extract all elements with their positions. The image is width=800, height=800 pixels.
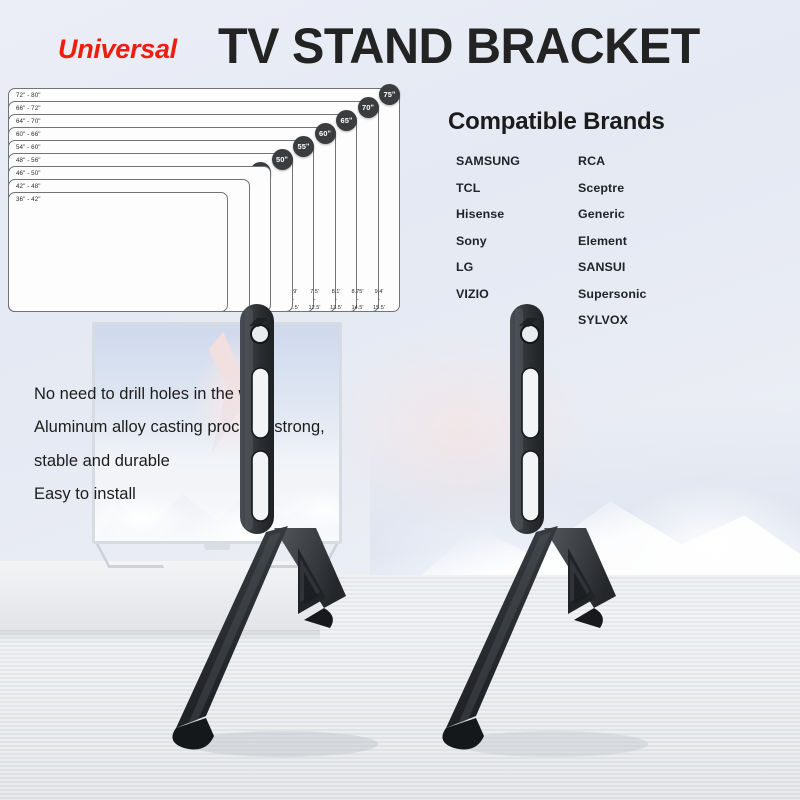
size-chart-row-label: 54" - 60" xyxy=(16,144,41,151)
tv-size-chart: 72" - 80"66" - 72"64" - 70"60" - 66"54" … xyxy=(8,88,400,316)
size-badge: 75ʺ xyxy=(379,84,400,105)
brand-item: SANSUI xyxy=(578,260,646,274)
brand-item: Sony xyxy=(456,234,520,248)
size-badge: 65ʺ xyxy=(336,110,357,131)
size-badge: 55ʺ xyxy=(293,136,314,157)
size-chart-row-label: 60" - 66" xyxy=(16,131,41,138)
brand-item: LG xyxy=(456,260,520,274)
brand-item: RCA xyxy=(578,154,646,168)
brand-item: Sceptre xyxy=(578,181,646,195)
brand-item: SAMSUNG xyxy=(456,154,520,168)
size-badge: 70ʺ xyxy=(358,97,379,118)
page-title: TV STAND BRACKET xyxy=(218,17,700,75)
size-chart-row-label: 48" - 56" xyxy=(16,157,41,164)
bracket-post xyxy=(510,304,544,534)
header-eyebrow: Universal xyxy=(58,34,177,65)
brand-item: Generic xyxy=(578,207,646,221)
bracket-post xyxy=(240,304,274,534)
compatible-brands-section: Compatible Brands SAMSUNGTCLHisenseSonyL… xyxy=(448,108,793,327)
page-header: Universal TV STAND BRACKET xyxy=(0,10,800,72)
size-badge: 50ʺ xyxy=(272,149,293,170)
brands-title: Compatible Brands xyxy=(448,108,793,136)
size-chart-row: 36" - 42" xyxy=(8,192,228,312)
tv-stand-bracket-right xyxy=(418,296,800,766)
size-chart-row-label: 66" - 72" xyxy=(16,105,41,112)
brand-item: Hisense xyxy=(456,207,520,221)
size-chart-row-label: 42" - 48" xyxy=(16,183,41,190)
brand-item: TCL xyxy=(456,181,520,195)
brand-item: Element xyxy=(578,234,646,248)
size-chart-row-label: 46" - 50" xyxy=(16,170,41,177)
size-chart-row-label: 72" - 80" xyxy=(16,92,41,99)
size-badge: 60ʺ xyxy=(315,123,336,144)
bracket-base xyxy=(172,526,346,750)
size-chart-row-label: 36" - 42" xyxy=(16,196,41,203)
size-chart-row-label: 64" - 70" xyxy=(16,118,41,125)
bracket-base xyxy=(442,526,616,750)
